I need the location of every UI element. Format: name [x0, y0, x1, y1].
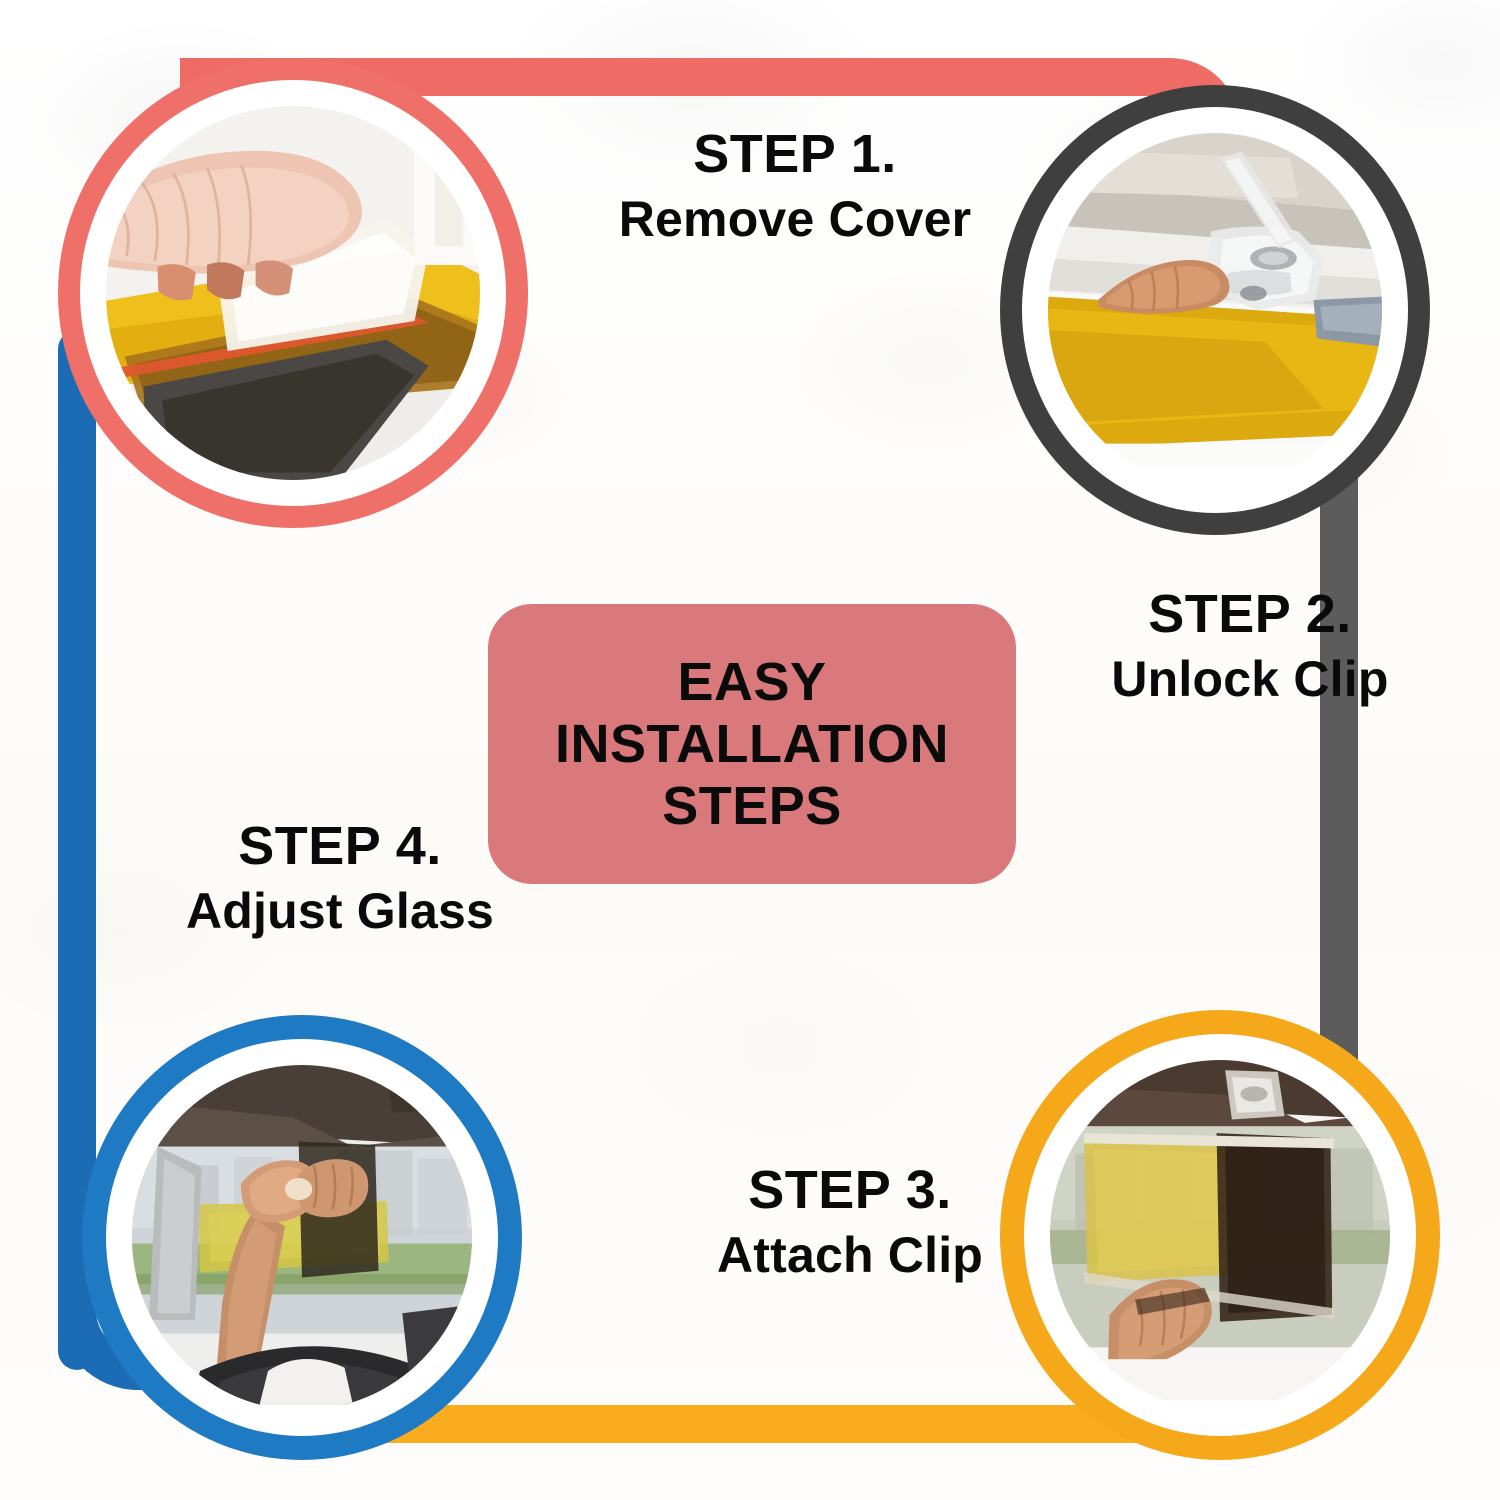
step-3-photo-frame — [1050, 1060, 1390, 1410]
step-1-title: STEP 1. — [560, 126, 1030, 183]
photo-attach-clip — [1050, 1060, 1390, 1400]
step-4-photo-circle — [82, 1015, 522, 1460]
step-2-photo-circle — [1000, 85, 1430, 535]
step-2-photo-frame — [1048, 133, 1382, 487]
step-4-label: STEP 4. Adjust Glass — [140, 818, 540, 939]
step-4-subtitle: Adjust Glass — [140, 883, 540, 939]
step-3-label: STEP 3. Attach Clip — [650, 1162, 1050, 1283]
step-3-subtitle: Attach Clip — [650, 1227, 1050, 1283]
step-1-photo-circle — [58, 58, 528, 528]
photo-unlock-clip — [1048, 133, 1382, 467]
step-4-photo-frame — [132, 1065, 472, 1410]
infographic-canvas: EASY INSTALLATION STEPS STEP 1. Remove C… — [0, 0, 1500, 1500]
step-4-title: STEP 4. — [140, 818, 540, 875]
step-2-label: STEP 2. Unlock Clip — [1050, 586, 1450, 707]
step-3-title: STEP 3. — [650, 1162, 1050, 1219]
step-3-photo-circle — [1000, 1010, 1440, 1460]
step-2-subtitle: Unlock Clip — [1050, 651, 1450, 707]
photo-remove-cover — [106, 106, 480, 480]
photo-adjust-glass — [132, 1065, 472, 1405]
step-1-subtitle: Remove Cover — [560, 191, 1030, 247]
step-1-photo-frame — [106, 106, 480, 480]
badge-text: EASY INSTALLATION STEPS — [555, 651, 949, 837]
step-1-label: STEP 1. Remove Cover — [560, 126, 1030, 247]
easy-installation-badge: EASY INSTALLATION STEPS — [488, 604, 1016, 884]
step-2-title: STEP 2. — [1050, 586, 1450, 643]
